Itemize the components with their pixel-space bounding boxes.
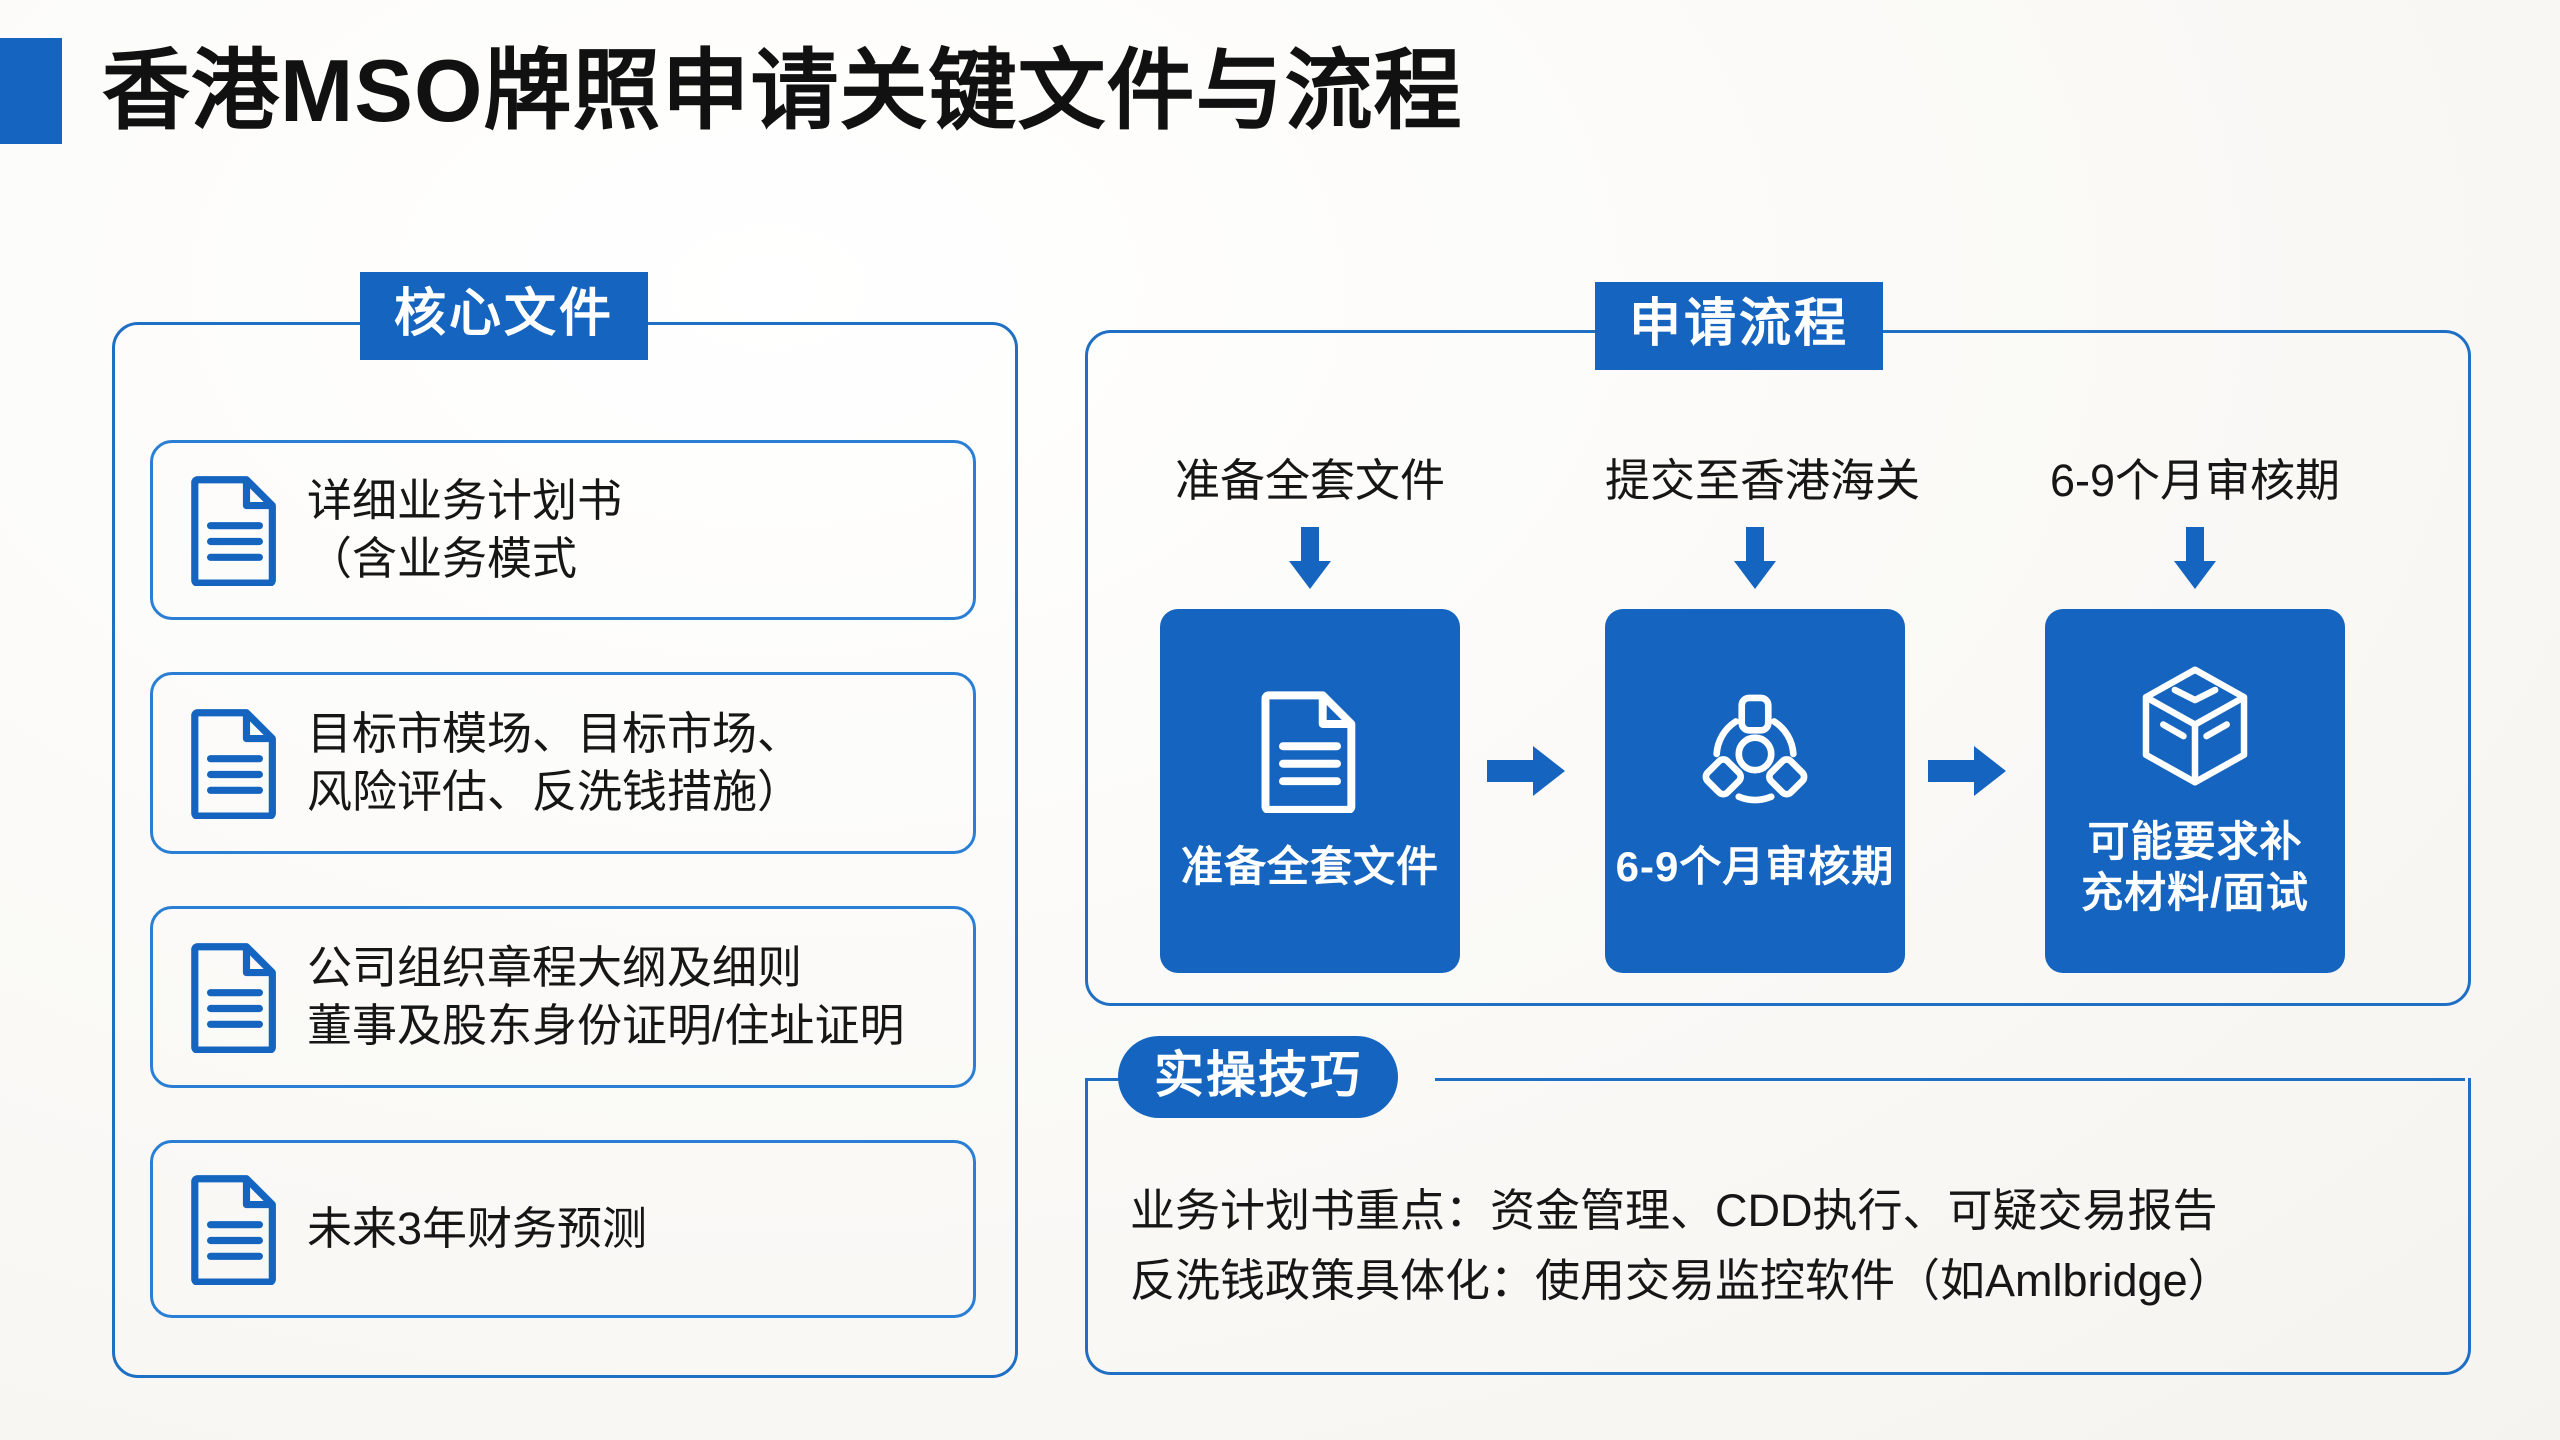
- arrow-right-icon: [1928, 742, 2008, 800]
- flow-step-box[interactable]: 可能要求补 充材料/面试: [2045, 609, 2345, 973]
- document-card[interactable]: 公司组织章程大纲及细则 董事及股东身份证明/住址证明: [150, 906, 976, 1088]
- document-icon: [189, 941, 281, 1053]
- flow-step-box[interactable]: 6-9个月审核期: [1605, 609, 1905, 973]
- document-card[interactable]: 详细业务计划书 （含业务模式: [150, 440, 976, 620]
- flow-step[interactable]: 6-9个月审核期 可能要求补 充材料/面试: [2045, 458, 2345, 973]
- flow-step[interactable]: 提交至香港海关 6-9个月审核期: [1605, 458, 1905, 973]
- flow-step-box-label: 可能要求补 充材料/面试: [2081, 816, 2309, 918]
- tips-panel-top-border-left: [1085, 1078, 1120, 1081]
- tips-badge: 实操技巧: [1118, 1036, 1398, 1118]
- document-card[interactable]: 目标市模场、目标市场、 风险评估、反洗钱措施）: [150, 672, 976, 854]
- flow-step-box[interactable]: 准备全套文件: [1160, 609, 1460, 973]
- page-header: 香港MSO牌照申请关键文件与流程: [0, 38, 1462, 144]
- document-icon: [189, 474, 281, 586]
- flow-step-label: 6-9个月审核期: [2045, 458, 2345, 503]
- flow-step-label: 准备全套文件: [1160, 458, 1460, 503]
- document-card-label: 目标市模场、目标市场、 风险评估、反洗钱措施）: [307, 705, 802, 820]
- page-title: 香港MSO牌照申请关键文件与流程: [102, 47, 1462, 135]
- application-flow-tab: 申请流程: [1595, 282, 1883, 370]
- document-card[interactable]: 未来3年财务预测: [150, 1140, 976, 1318]
- tips-line: 业务计划书重点：资金管理、CDD执行、可疑交易报告: [1130, 1188, 2218, 1233]
- network-nodes-icon: [1696, 689, 1814, 813]
- document-card-label: 详细业务计划书 （含业务模式: [307, 472, 622, 587]
- cube-box-icon: [2136, 664, 2254, 788]
- flow-step[interactable]: 准备全套文件 准备全套文件: [1160, 458, 1460, 973]
- tips-line: 反洗钱政策具体化：使用交易监控软件（如Amlbridge）: [1130, 1258, 2233, 1303]
- document-icon: [1251, 689, 1369, 813]
- title-accent-bar: [0, 38, 62, 144]
- arrow-down-icon: [2172, 527, 2218, 589]
- document-icon: [189, 1173, 281, 1285]
- flow-step-label: 提交至香港海关: [1605, 458, 1905, 503]
- arrow-down-icon: [1287, 527, 1333, 589]
- document-icon: [189, 707, 281, 819]
- document-card-label: 未来3年财务预测: [307, 1200, 647, 1258]
- flow-step-box-label: 6-9个月审核期: [1616, 841, 1895, 892]
- tips-panel-top-border-right: [1435, 1078, 2465, 1081]
- flow-step-box-label: 准备全套文件: [1181, 841, 1439, 892]
- arrow-down-icon: [1732, 527, 1778, 589]
- document-card-label: 公司组织章程大纲及细则 董事及股东身份证明/住址证明: [307, 939, 905, 1054]
- arrow-right-icon: [1487, 742, 1567, 800]
- core-documents-tab: 核心文件: [360, 272, 648, 360]
- infographic-page: 香港MSO牌照申请关键文件与流程 核心文件 详细业务计划书 （含业务模式 目标: [0, 0, 2560, 1440]
